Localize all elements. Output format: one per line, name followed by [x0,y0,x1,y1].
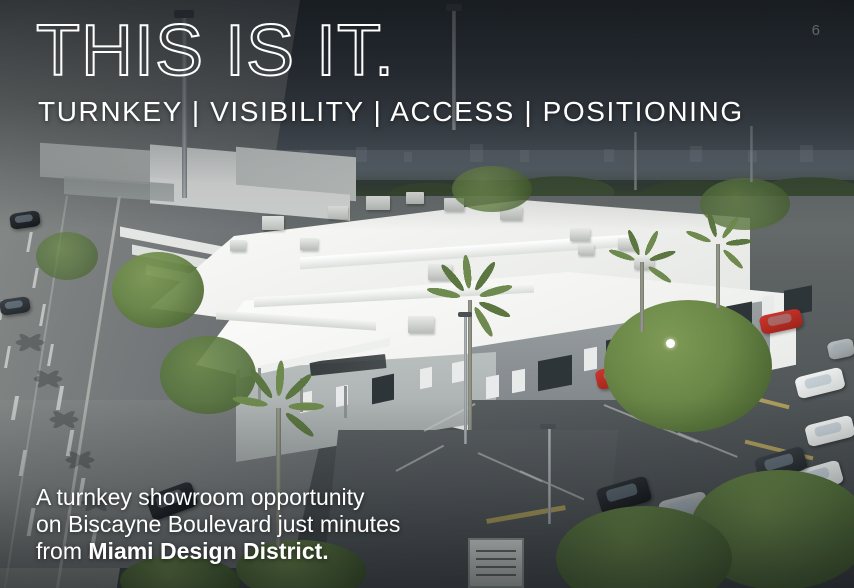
caption-line-3: from Miami Design District. [36,538,400,565]
page-number: 6 [812,22,820,39]
feature-list: TURNKEY | VISIBILITY | ACCESS | POSITION… [38,95,744,129]
caption-block: A turnkey showroom opportunity on Biscay… [36,484,400,565]
presentation-slide: THIS IS IT. TURNKEY | VISIBILITY | ACCES… [0,0,854,588]
caption-line-3-prefix: from [36,538,88,564]
page-title: THIS IS IT. [36,12,395,90]
caption-line-1: A turnkey showroom opportunity [36,484,400,511]
caption-line-3-emphasis: Miami Design District. [88,538,328,564]
caption-line-2: on Biscayne Boulevard just minutes [36,511,400,538]
